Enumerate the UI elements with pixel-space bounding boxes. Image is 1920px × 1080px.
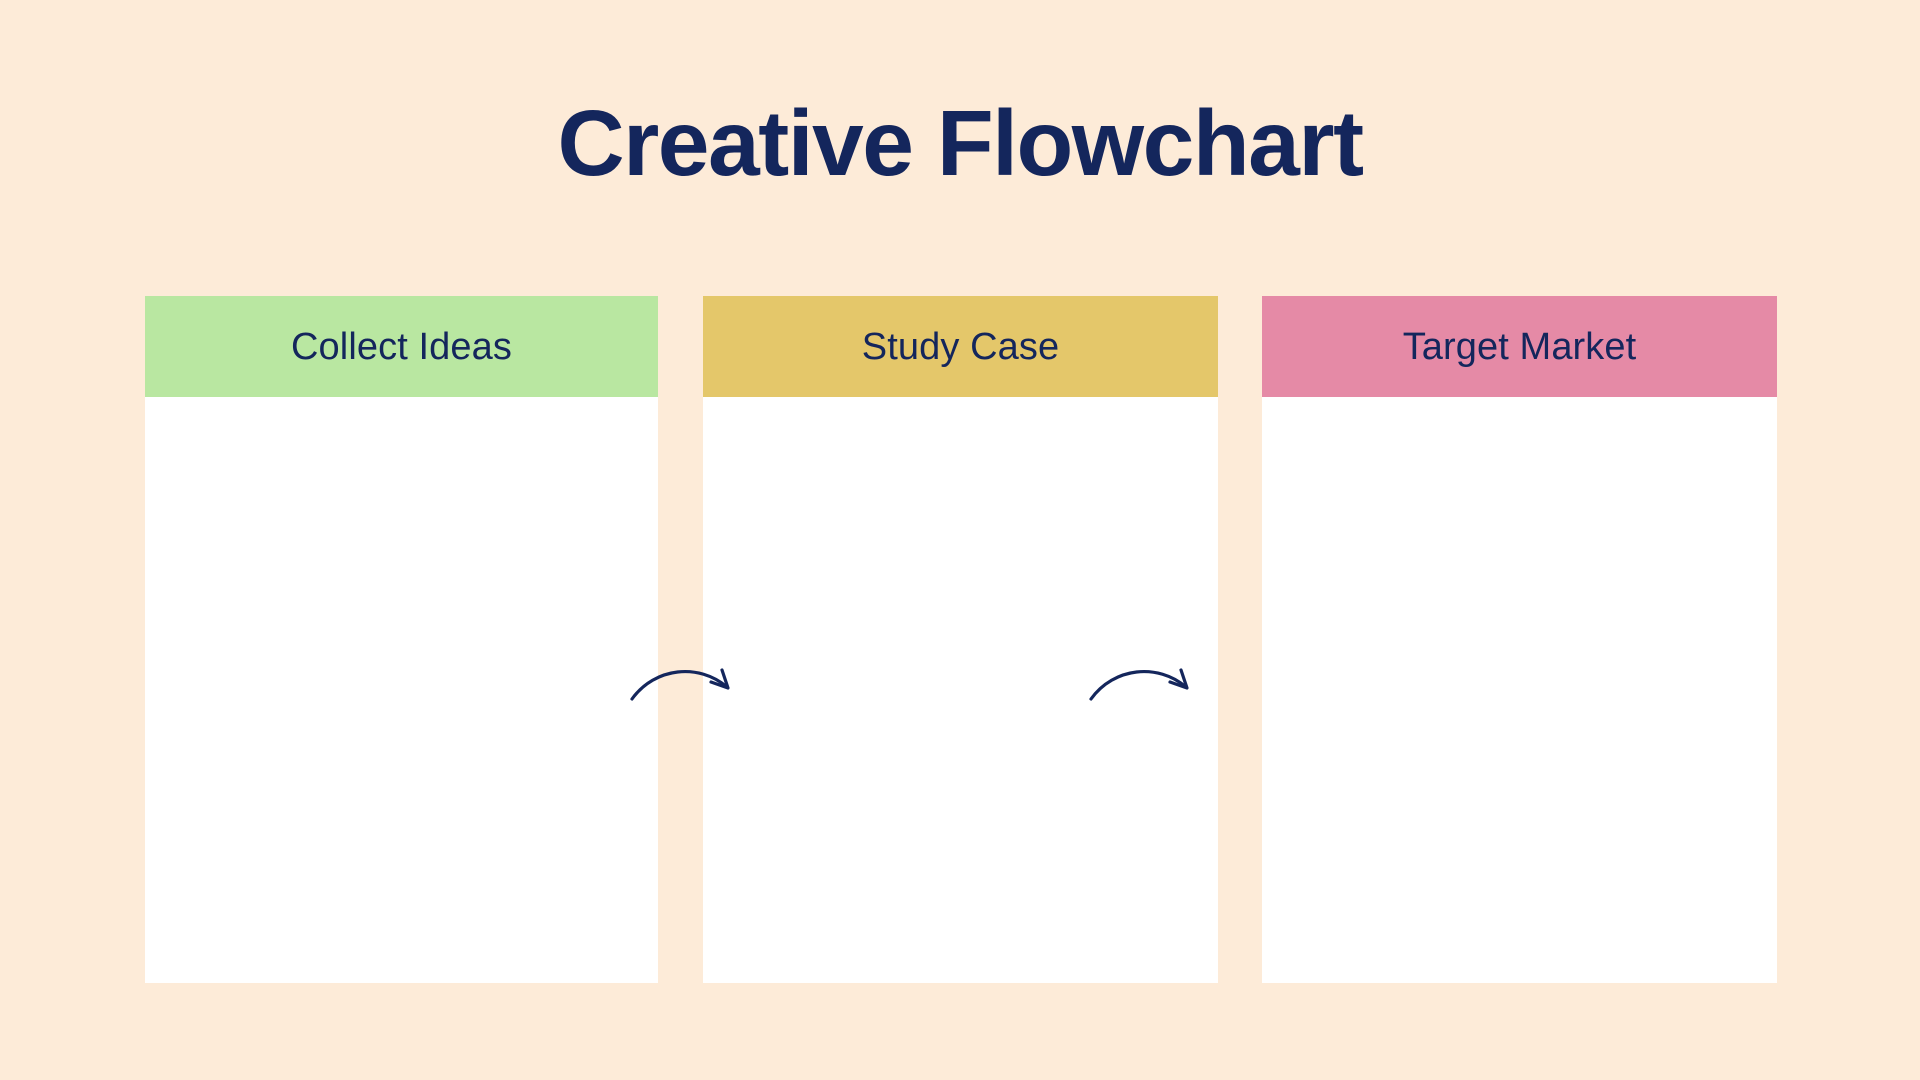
flowchart-stages-row: Collect Ideas Study Case Target Market: [145, 296, 1777, 983]
stage-body[interactable]: [145, 397, 658, 983]
flowchart-stage-card[interactable]: Target Market: [1262, 296, 1777, 983]
flowchart-stage-card[interactable]: Collect Ideas: [145, 296, 658, 983]
stage-body[interactable]: [703, 397, 1218, 983]
flowchart-stage-card[interactable]: Study Case: [703, 296, 1218, 983]
stage-header: Collect Ideas: [145, 296, 658, 397]
stage-header: Study Case: [703, 296, 1218, 397]
stage-header-label: Target Market: [1403, 324, 1637, 370]
stage-header-label: Study Case: [862, 324, 1059, 370]
stage-header-label: Collect Ideas: [291, 324, 512, 370]
flowchart-canvas: Creative Flowchart Collect Ideas Study C…: [0, 0, 1920, 1080]
stage-header: Target Market: [1262, 296, 1777, 397]
page-title: Creative Flowchart: [0, 93, 1920, 193]
stage-body[interactable]: [1262, 397, 1777, 983]
